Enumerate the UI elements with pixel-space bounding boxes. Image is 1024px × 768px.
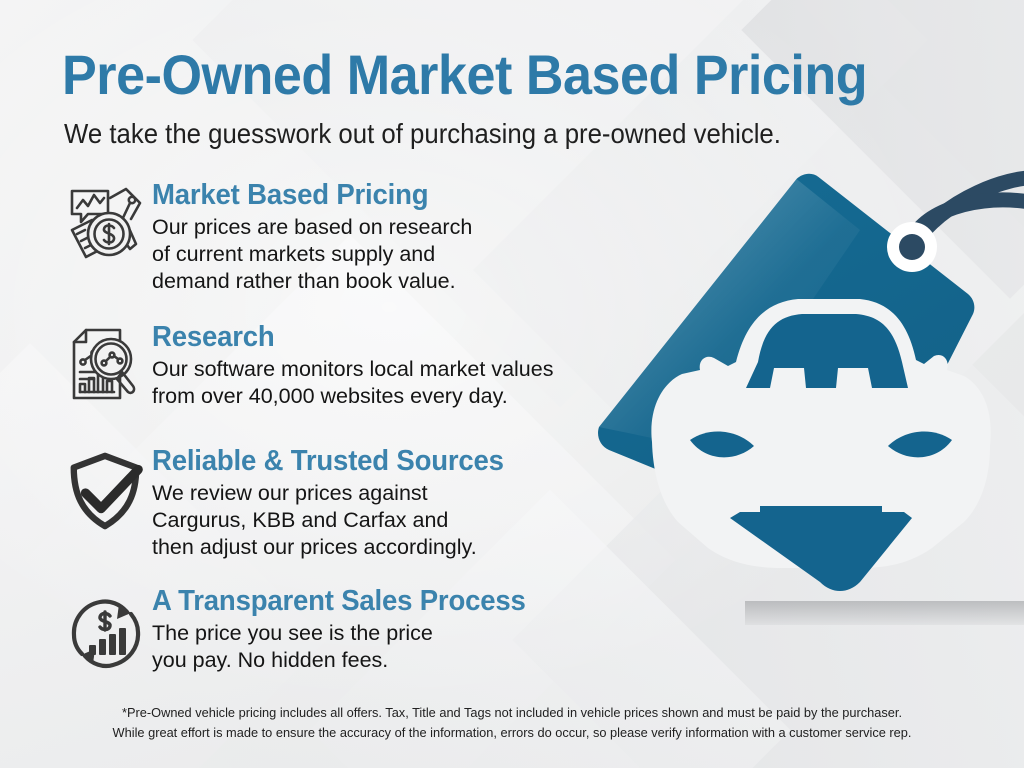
feature-text: The price you see is the price you pay. … xyxy=(152,620,620,673)
shield-check-icon xyxy=(64,450,146,532)
feature-item-reliable-trusted-sources: Reliable & Trusted Sources We review our… xyxy=(60,446,620,560)
chart-magnifier-dollar-icon xyxy=(64,182,148,266)
feature-title: Reliable & Trusted Sources xyxy=(152,446,597,476)
page-subtitle: We take the guesswork out of purchasing … xyxy=(64,120,781,148)
feature-item-transparent-sales-process: A Transparent Sales Process The price yo… xyxy=(60,586,620,674)
feature-title: Research xyxy=(152,322,597,352)
page-title: Pre-Owned Market Based Pricing xyxy=(62,47,867,103)
infographic-canvas: Pre-Owned Market Based Pricing We take t… xyxy=(0,0,1024,768)
feature-title: Market Based Pricing xyxy=(152,180,597,210)
feature-text: Our prices are based on research of curr… xyxy=(152,214,620,294)
car-front-silhouette-icon xyxy=(651,299,990,591)
tag-grommet-icon xyxy=(887,222,937,272)
document-chart-magnifier-icon xyxy=(64,326,148,410)
feature-text: Our software monitors local market value… xyxy=(152,356,620,409)
feature-text: We review our prices against Cargurus, K… xyxy=(152,480,620,560)
feature-item-research: Research Our software monitors local mar… xyxy=(60,322,620,410)
disclaimer-text: *Pre-Owned vehicle pricing includes all … xyxy=(15,703,1008,744)
tag-string-icon xyxy=(912,178,1024,246)
feature-item-market-based-pricing: Market Based Pricing Our prices are base… xyxy=(60,180,620,294)
tag-ground-shadow xyxy=(745,601,1024,625)
feature-title: A Transparent Sales Process xyxy=(152,586,597,616)
refresh-dollar-bars-icon xyxy=(64,592,148,676)
price-tag-with-car-illustration xyxy=(560,150,1024,670)
